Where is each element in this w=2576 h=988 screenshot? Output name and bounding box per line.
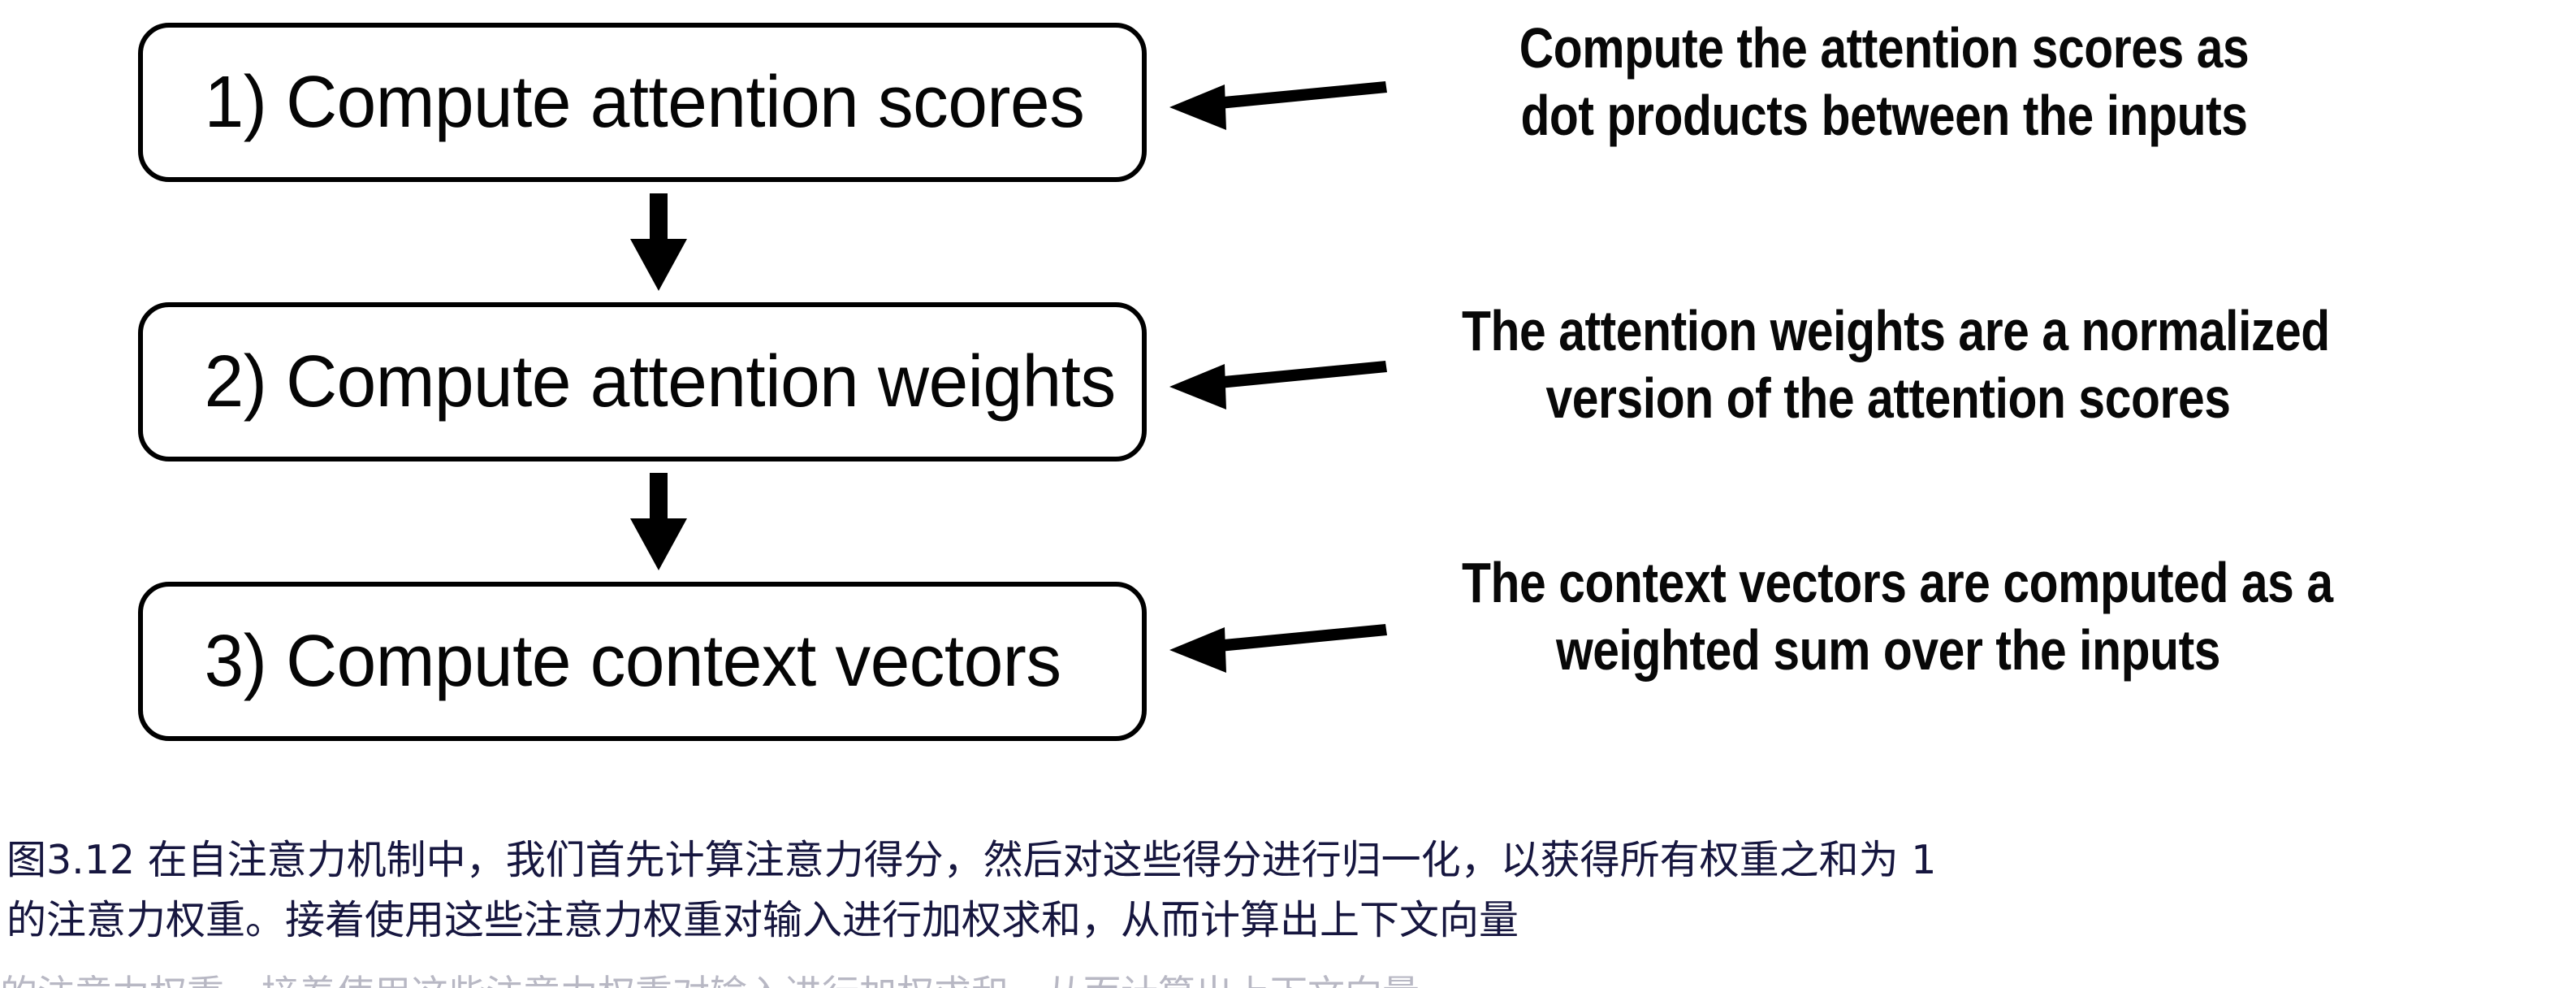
- annotation-1-line-2: dot products between the inputs: [1489, 82, 2280, 149]
- left-arrow-icon: [1166, 68, 1394, 133]
- flow-step-label-2: 2) Compute attention weights: [143, 345, 1116, 418]
- annotation-text-3: The context vectors are computed as a we…: [1381, 549, 2396, 683]
- annotation-text-2: The attention weights are a normalized v…: [1381, 297, 2396, 431]
- annotation-2-line-2: version of the attention scores: [1462, 365, 2315, 432]
- caption-line-1: 图3.12 在自注意力机制中，我们首先计算注意力得分，然后对这些得分进行归一化，…: [6, 830, 2573, 890]
- figure-caption: 图3.12 在自注意力机制中，我们首先计算注意力得分，然后对这些得分进行归一化，…: [6, 830, 2573, 951]
- down-arrow-icon: [614, 473, 703, 572]
- down-arrow-icon: [614, 193, 703, 292]
- flow-step-label-3: 3) Compute context vectors: [143, 625, 1061, 698]
- clipped-text-artifact: 的注意力权重。接着使用这些注意力权重对输入进行加权求和，从而计算出上下文向量: [0, 975, 2576, 988]
- flow-step-box-2: 2) Compute attention weights: [138, 302, 1147, 461]
- left-arrow-icon: [1166, 348, 1394, 413]
- annotation-1-line-1: Compute the attention scores as: [1489, 15, 2280, 82]
- caption-line-2: 的注意力权重。接着使用这些注意力权重对输入进行加权求和，从而计算出上下文向量: [6, 890, 2573, 951]
- annotation-3-line-1: The context vectors are computed as a: [1462, 549, 2315, 617]
- figure-canvas: 1) Compute attention scores 2) Compute a…: [0, 0, 2576, 988]
- flow-step-label-1: 1) Compute attention scores: [143, 66, 1084, 139]
- clipped-text-artifact-line: 的注意力权重。接着使用这些注意力权重对输入进行加权求和，从而计算出上下文向量: [0, 975, 1420, 988]
- annotation-2-line-1: The attention weights are a normalized: [1462, 297, 2315, 365]
- flow-step-box-1: 1) Compute attention scores: [138, 23, 1147, 182]
- flow-step-box-3: 3) Compute context vectors: [138, 582, 1147, 741]
- left-arrow-icon: [1166, 611, 1394, 676]
- annotation-3-line-2: weighted sum over the inputs: [1462, 617, 2315, 684]
- annotation-text-1: Compute the attention scores as dot prod…: [1413, 15, 2355, 149]
